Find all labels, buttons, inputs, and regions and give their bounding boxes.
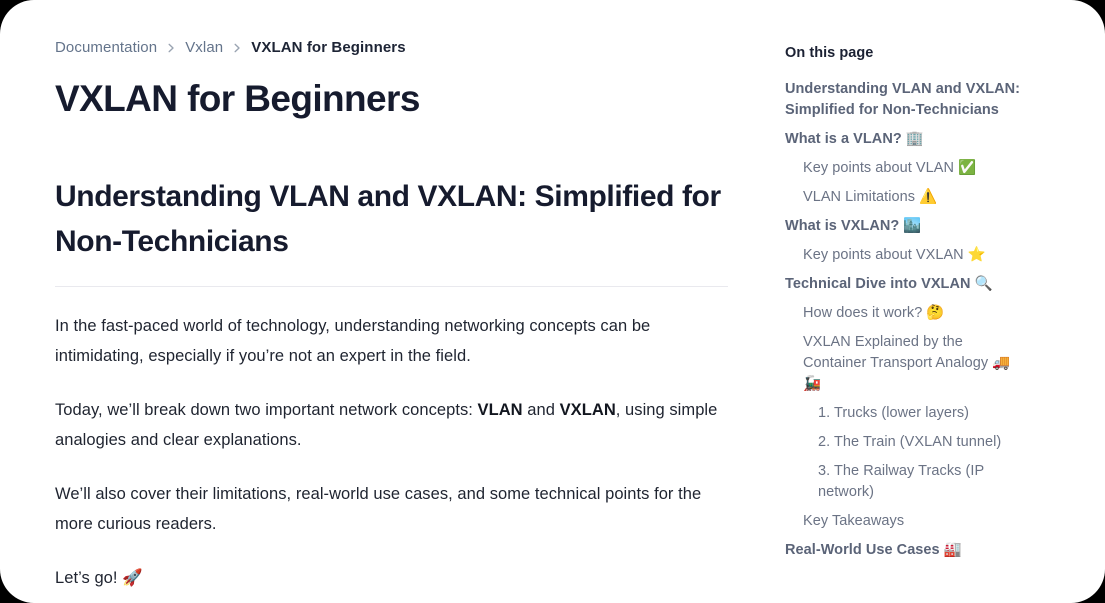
paragraph: In the fast-paced world of technology, u… xyxy=(55,287,727,371)
toc-item[interactable]: What is a VLAN? 🏢 xyxy=(785,129,1025,150)
toc-item[interactable]: VLAN Limitations ⚠️ xyxy=(785,187,1025,208)
toc-item[interactable]: Key Takeaways xyxy=(785,511,1025,532)
breadcrumb-item-current: VXLAN for Beginners xyxy=(251,38,405,58)
paragraph: We’ll also cover their limitations, real… xyxy=(55,455,727,539)
paragraph: Today, we’ll break down two important ne… xyxy=(55,371,727,455)
page-title: VXLAN for Beginners xyxy=(55,76,728,122)
main-content: DocumentationVxlanVXLAN for Beginners VX… xyxy=(0,38,728,593)
breadcrumb: DocumentationVxlanVXLAN for Beginners xyxy=(55,38,728,58)
toc-item[interactable]: Key points about VXLAN ⭐ xyxy=(785,245,1025,266)
paragraph: Let’s go! 🚀 xyxy=(55,539,727,593)
breadcrumb-item[interactable]: Vxlan xyxy=(185,38,223,58)
toc-item[interactable]: Key points about VLAN ✅ xyxy=(785,158,1025,179)
text-run: Let’s go! 🚀 xyxy=(55,569,143,587)
article-body: In the fast-paced world of technology, u… xyxy=(55,287,728,593)
toc-item[interactable]: Understanding VLAN and VXLAN: Simplified… xyxy=(785,79,1025,121)
text-run: In the fast-paced world of technology, u… xyxy=(55,317,650,365)
toc-item[interactable]: What is VXLAN? 🏙️ xyxy=(785,216,1025,237)
toc-title: On this page xyxy=(785,43,1025,63)
text-run: Today, we’ll break down two important ne… xyxy=(55,401,478,419)
text-run: We’ll also cover their limitations, real… xyxy=(55,485,701,533)
chevron-right-icon xyxy=(231,42,243,54)
toc-list: Understanding VLAN and VXLAN: Simplified… xyxy=(785,79,1025,561)
toc-item[interactable]: 3. The Railway Tracks (IP network) xyxy=(785,461,1025,503)
page-layout: DocumentationVxlanVXLAN for Beginners VX… xyxy=(0,0,1105,593)
toc-item[interactable]: Technical Dive into VXLAN 🔍 xyxy=(785,274,1025,295)
toc-item[interactable]: 2. The Train (VXLAN tunnel) xyxy=(785,432,1025,453)
toc-item[interactable]: 1. Trucks (lower layers) xyxy=(785,403,1025,424)
section-heading: Understanding VLAN and VXLAN: Simplified… xyxy=(55,174,728,287)
toc-item[interactable]: Real-World Use Cases 🏭 xyxy=(785,540,1025,561)
documentation-page: DocumentationVxlanVXLAN for Beginners VX… xyxy=(0,0,1105,603)
toc-item[interactable]: VXLAN Explained by the Container Transpo… xyxy=(785,332,1025,395)
toc-item[interactable]: How does it work? 🤔 xyxy=(785,303,1025,324)
bold-term: VLAN xyxy=(478,401,523,419)
chevron-right-icon xyxy=(165,42,177,54)
table-of-contents: On this page Understanding VLAN and VXLA… xyxy=(785,38,1025,569)
text-run: and xyxy=(523,401,560,419)
breadcrumb-item[interactable]: Documentation xyxy=(55,38,157,58)
bold-term: VXLAN xyxy=(560,401,616,419)
